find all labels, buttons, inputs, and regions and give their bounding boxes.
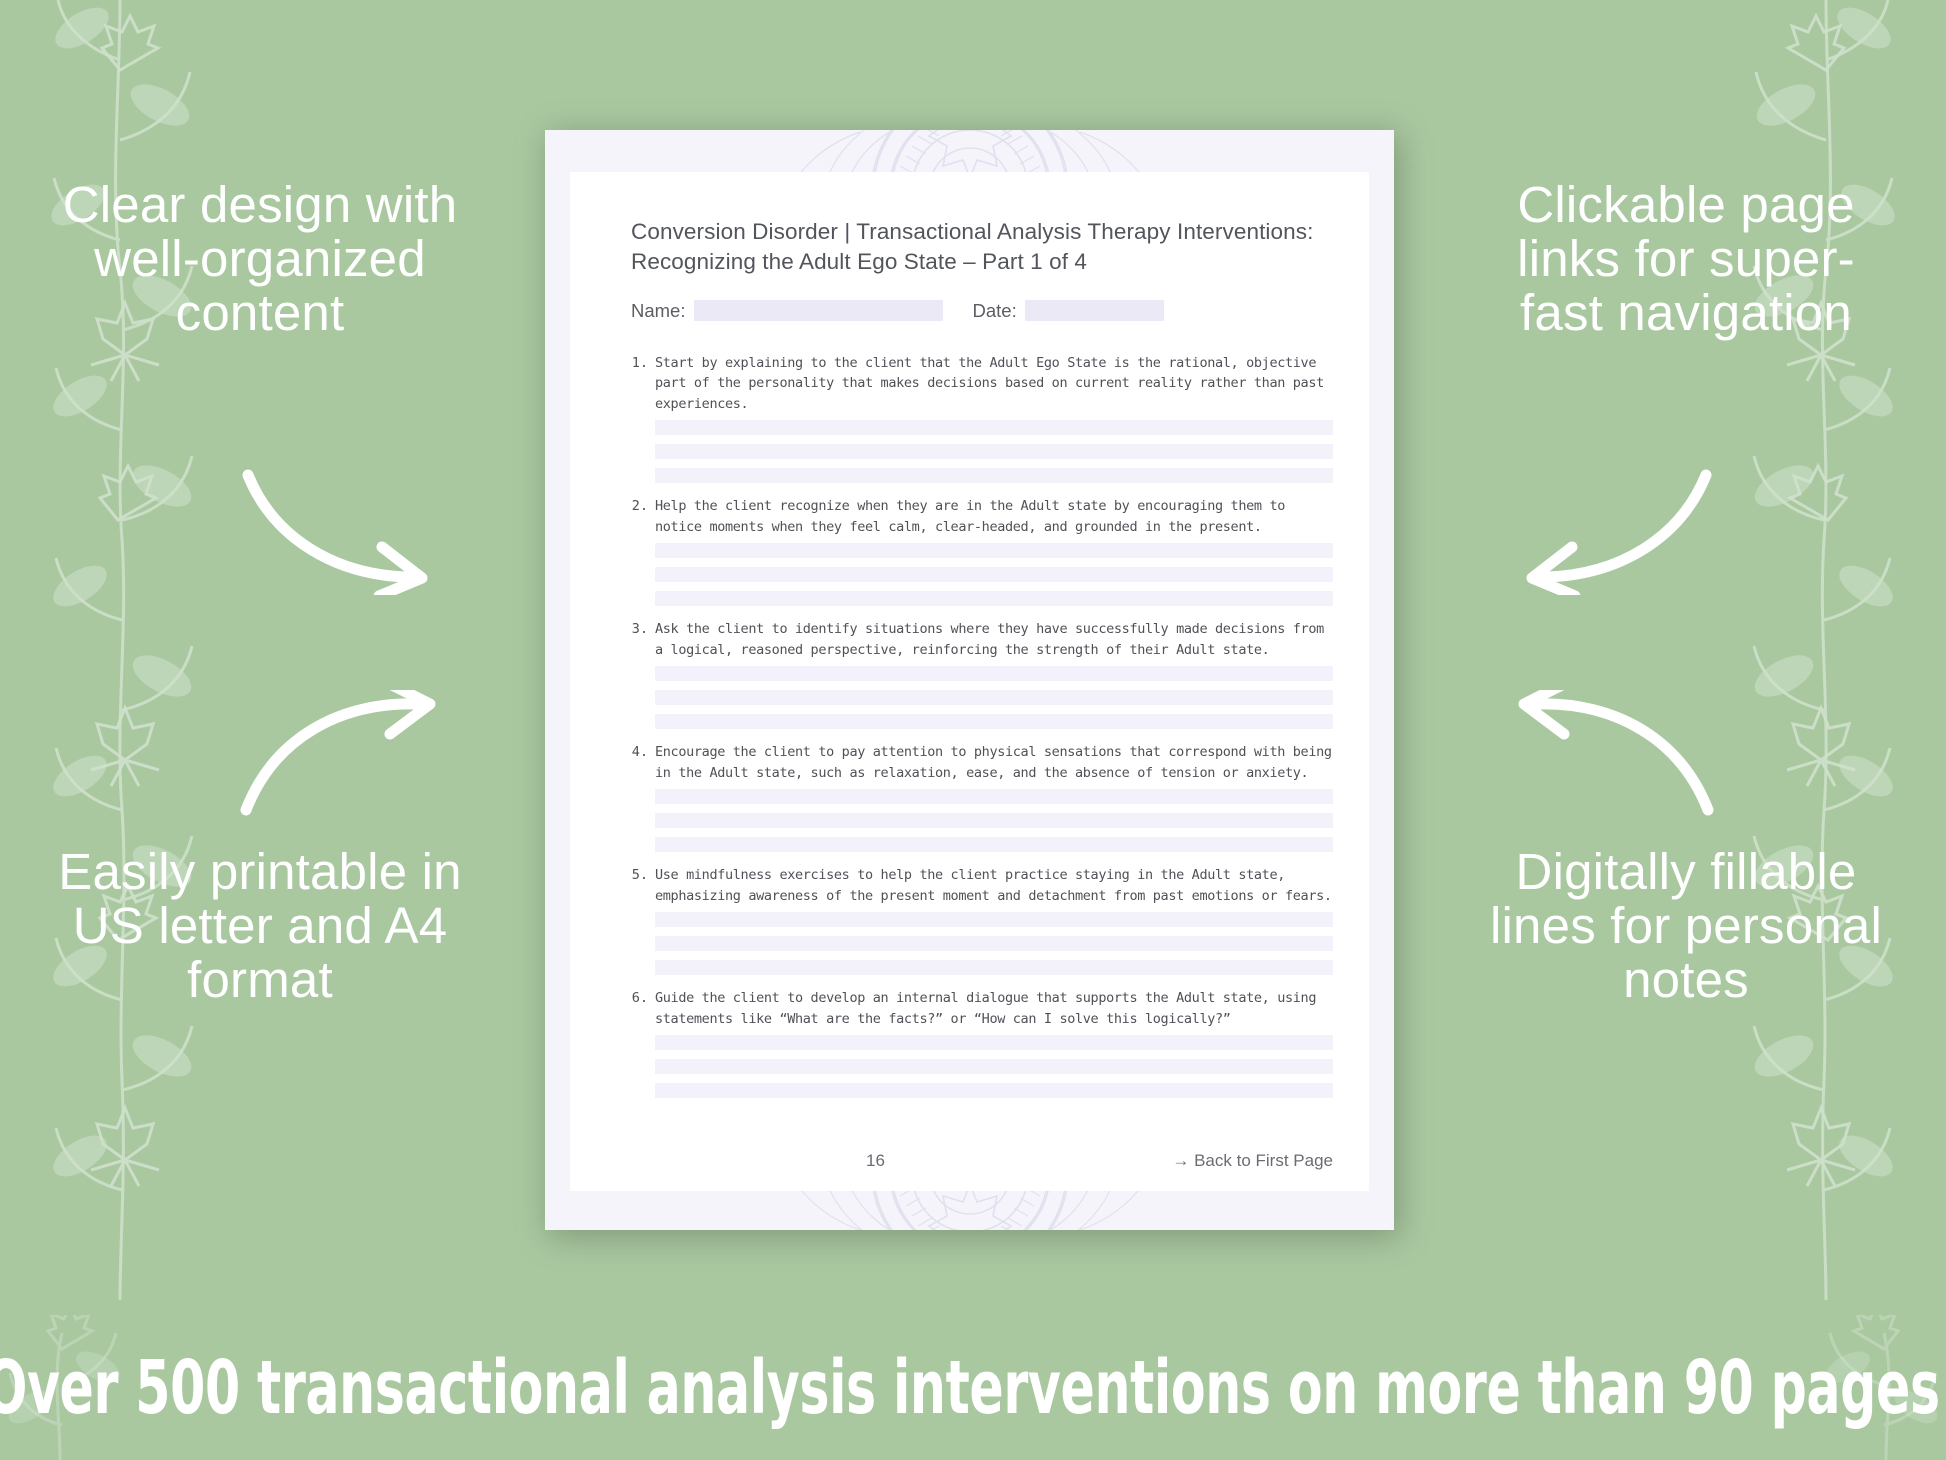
intervention-item: 5.Use mindfulness exercises to help the … <box>631 865 1333 975</box>
fillable-line[interactable] <box>655 543 1333 558</box>
curved-arrow-icon-top-left <box>240 465 440 595</box>
back-to-first-page-link[interactable]: → Back to First Page <box>1172 1151 1333 1171</box>
feature-blurb-top-left: Clear design with well-organized content <box>50 178 470 340</box>
intervention-list: 1.Start by explaining to the client that… <box>631 353 1333 1099</box>
fillable-line[interactable] <box>655 1059 1333 1074</box>
date-label: Date: <box>973 300 1017 322</box>
intervention-item-head: 6.Guide the client to develop an interna… <box>631 988 1333 1029</box>
fillable-lines-group <box>655 666 1333 729</box>
page-number: 16 <box>866 1151 885 1171</box>
date-input[interactable] <box>1025 300 1164 321</box>
bottom-banner: Over 500 transactional analysis interven… <box>0 1315 1946 1460</box>
fillable-line[interactable] <box>655 714 1333 729</box>
intervention-item-text: Start by explaining to the client that t… <box>655 353 1333 415</box>
worksheet-sheet: Conversion Disorder | Transactional Anal… <box>570 172 1369 1191</box>
worksheet-title: Conversion Disorder | Transactional Anal… <box>631 218 1333 246</box>
name-input[interactable] <box>694 300 943 321</box>
worksheet-subtitle: Recognizing the Adult Ego State – Part 1… <box>631 248 1333 276</box>
fillable-line[interactable] <box>655 567 1333 582</box>
fillable-lines-group <box>655 789 1333 852</box>
worksheet-footer: 16 → Back to First Page <box>631 1151 1333 1171</box>
intervention-item-number: 6. <box>631 988 655 1009</box>
intervention-item-text: Help the client recognize when they are … <box>655 496 1333 537</box>
intervention-item-text: Ask the client to identify situations wh… <box>655 619 1333 660</box>
fillable-line[interactable] <box>655 789 1333 804</box>
curved-arrow-icon-bottom-right <box>1504 690 1714 820</box>
intervention-item-head: 2.Help the client recognize when they ar… <box>631 496 1333 537</box>
intervention-item-head: 5.Use mindfulness exercises to help the … <box>631 865 1333 906</box>
fillable-lines-group <box>655 912 1333 975</box>
intervention-item-head: 3.Ask the client to identify situations … <box>631 619 1333 660</box>
fillable-line[interactable] <box>655 444 1333 459</box>
fillable-lines-group <box>655 420 1333 483</box>
intervention-item-head: 1.Start by explaining to the client that… <box>631 353 1333 415</box>
intervention-item: 6.Guide the client to develop an interna… <box>631 988 1333 1098</box>
fillable-line[interactable] <box>655 912 1333 927</box>
fillable-line[interactable] <box>655 813 1333 828</box>
name-label: Name: <box>631 300 686 322</box>
intervention-item: 1.Start by explaining to the client that… <box>631 353 1333 484</box>
intervention-item-number: 4. <box>631 742 655 763</box>
feature-blurb-top-right: Clickable page links for super-fast navi… <box>1476 178 1896 340</box>
meta-row: Name: Date: <box>631 300 1333 322</box>
curved-arrow-icon-bottom-left <box>240 690 450 820</box>
fillable-lines-group <box>655 543 1333 606</box>
intervention-item-number: 1. <box>631 353 655 374</box>
intervention-item-text: Use mindfulness exercises to help the cl… <box>655 865 1333 906</box>
intervention-item: 3.Ask the client to identify situations … <box>631 619 1333 729</box>
fillable-line[interactable] <box>655 690 1333 705</box>
intervention-item: 4.Encourage the client to pay attention … <box>631 742 1333 852</box>
feature-blurb-bottom-right: Digitally fillable lines for personal no… <box>1476 845 1896 1007</box>
fillable-line[interactable] <box>655 936 1333 951</box>
banner-headline: Over 500 transactional analysis interven… <box>0 1345 1946 1431</box>
feature-blurb-bottom-left: Easily printable in US letter and A4 for… <box>50 845 470 1007</box>
intervention-item-number: 2. <box>631 496 655 517</box>
fillable-line[interactable] <box>655 666 1333 681</box>
fillable-line[interactable] <box>655 1035 1333 1050</box>
worksheet-page: Conversion Disorder | Transactional Anal… <box>545 130 1394 1230</box>
fillable-line[interactable] <box>655 468 1333 483</box>
fillable-line[interactable] <box>655 591 1333 606</box>
fillable-line[interactable] <box>655 960 1333 975</box>
fillable-line[interactable] <box>655 1083 1333 1098</box>
intervention-item-number: 5. <box>631 865 655 886</box>
fillable-line[interactable] <box>655 420 1333 435</box>
intervention-item-number: 3. <box>631 619 655 640</box>
intervention-item-head: 4.Encourage the client to pay attention … <box>631 742 1333 783</box>
intervention-item-text: Encourage the client to pay attention to… <box>655 742 1333 783</box>
intervention-item-text: Guide the client to develop an internal … <box>655 988 1333 1029</box>
intervention-item: 2.Help the client recognize when they ar… <box>631 496 1333 606</box>
fillable-line[interactable] <box>655 837 1333 852</box>
curved-arrow-icon-top-right <box>1509 465 1714 595</box>
fillable-lines-group <box>655 1035 1333 1098</box>
